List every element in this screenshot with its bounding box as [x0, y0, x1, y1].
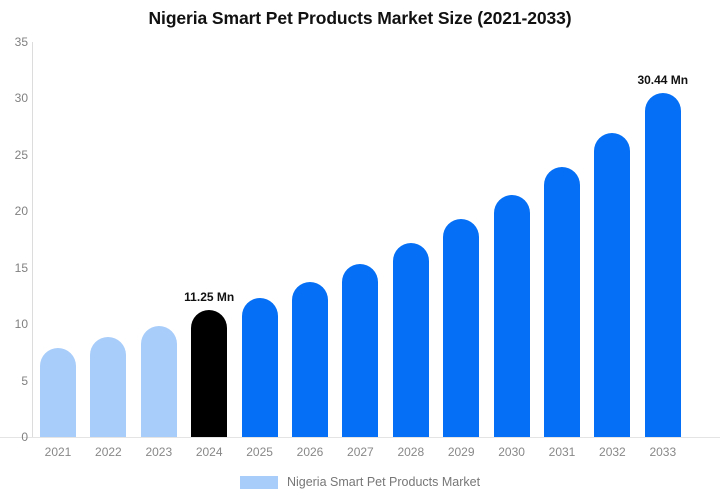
- bar-2021[interactable]: [40, 348, 76, 437]
- x-axis-tick-2022: 2022: [95, 445, 122, 459]
- x-axis-tick-2025: 2025: [246, 445, 273, 459]
- bar-2029[interactable]: [443, 219, 479, 437]
- bar-group-2028: 2028: [393, 243, 429, 437]
- bar-2030[interactable]: [494, 195, 530, 437]
- bar-2027[interactable]: [342, 264, 378, 437]
- x-axis-tick-2029: 2029: [448, 445, 475, 459]
- x-axis-tick-2031: 2031: [549, 445, 576, 459]
- bar-2025[interactable]: [242, 298, 278, 437]
- bar-2026[interactable]: [292, 282, 328, 437]
- bar-group-2021: 2021: [40, 348, 76, 437]
- x-axis-tick-2024: 2024: [196, 445, 223, 459]
- bar-2031[interactable]: [544, 167, 580, 437]
- bar-group-2024: 11.25 Mn2024: [191, 310, 227, 437]
- bar-group-2025: 2025: [242, 298, 278, 437]
- bar-group-2022: 2022: [90, 337, 126, 437]
- x-axis-tick-2023: 2023: [145, 445, 172, 459]
- bar-group-2026: 2026: [292, 282, 328, 437]
- x-axis-tick-2021: 2021: [45, 445, 72, 459]
- x-axis-tick-2030: 2030: [498, 445, 525, 459]
- x-axis-tick-2033: 2033: [649, 445, 676, 459]
- bar-2028[interactable]: [393, 243, 429, 437]
- x-axis-tick-2027: 2027: [347, 445, 374, 459]
- bar-group-2031: 2031: [544, 167, 580, 437]
- chart-legend: Nigeria Smart Pet Products Market: [0, 475, 720, 489]
- x-axis-tick-2028: 2028: [397, 445, 424, 459]
- bar-2032[interactable]: [594, 133, 630, 437]
- bar-2023[interactable]: [141, 326, 177, 437]
- x-axis-tick-2032: 2032: [599, 445, 626, 459]
- bar-value-label-2033: 30.44 Mn: [637, 73, 688, 87]
- bars-layer: 20212022202311.25 Mn20242025202620272028…: [0, 0, 720, 500]
- chart-container: Nigeria Smart Pet Products Market Size (…: [0, 0, 720, 500]
- bar-2033[interactable]: [645, 93, 681, 437]
- bar-group-2032: 2032: [594, 133, 630, 437]
- legend-label-nigeria-smart-pet-products-market: Nigeria Smart Pet Products Market: [287, 475, 480, 489]
- bar-value-label-2024: 11.25 Mn: [184, 290, 234, 304]
- legend-swatch-nigeria-smart-pet-products-market: [240, 476, 278, 489]
- bar-group-2030: 2030: [494, 195, 530, 437]
- bar-2024[interactable]: [191, 310, 227, 437]
- bar-group-2029: 2029: [443, 219, 479, 437]
- x-axis-tick-2026: 2026: [297, 445, 324, 459]
- bar-group-2033: 30.44 Mn2033: [645, 93, 681, 437]
- bar-2022[interactable]: [90, 337, 126, 437]
- bar-group-2027: 2027: [342, 264, 378, 437]
- bar-group-2023: 2023: [141, 326, 177, 437]
